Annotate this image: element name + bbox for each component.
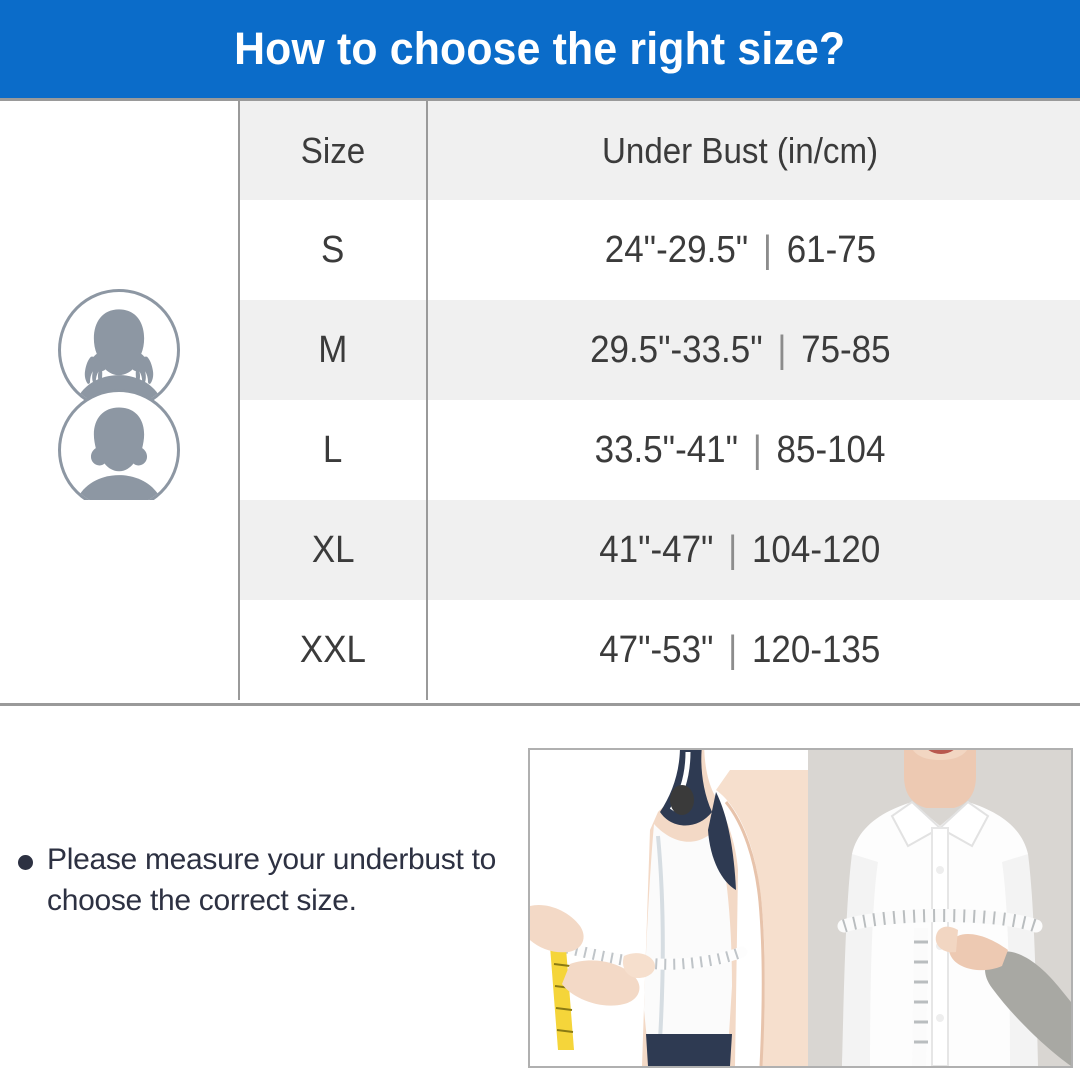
size-table: Size Under Bust (in/cm) S 24"-29.5"|61-7… [0, 101, 1080, 703]
measure-cell: 29.5"-33.5"|75-85 [426, 300, 1080, 400]
avatar-cell [0, 400, 238, 500]
size-label: S [321, 229, 344, 272]
table-bottom-divider [0, 703, 1080, 706]
size-label: M [318, 329, 347, 372]
table-row: M 29.5"-33.5"|75-85 [0, 300, 1080, 400]
measure-value: 29.5"-33.5"|75-85 [590, 329, 891, 372]
measure-cell: 24"-29.5"|61-75 [426, 200, 1080, 300]
header-banner: How to choose the right size? [0, 0, 1080, 98]
size-label: XXL [300, 629, 366, 672]
bullet-icon [18, 855, 33, 870]
measure-value: 33.5"-41"|85-104 [595, 429, 886, 472]
size-column-header-label: Size [301, 130, 365, 172]
table-row: S 24"-29.5"|61-75 [0, 200, 1080, 300]
avatar-cell [0, 500, 238, 600]
man-measuring-underbust-photo [808, 750, 1071, 1066]
measure-inches: 47"-53" [599, 629, 713, 672]
measure-cell: 33.5"-41"|85-104 [426, 400, 1080, 500]
measure-separator: | [777, 329, 786, 372]
avatar-cell [0, 600, 238, 700]
page-title: How to choose the right size? [234, 23, 845, 75]
measure-centimeters: 75-85 [801, 329, 890, 372]
measurement-photos [528, 748, 1073, 1068]
table-row: XXL 47"-53"|120-135 [0, 600, 1080, 700]
woman-measuring-underbust-photo [530, 750, 808, 1066]
measure-column-header-label: Under Bust (in/cm) [602, 130, 878, 172]
measure-inches: 41"-47" [599, 529, 713, 572]
measure-centimeters: 104-120 [752, 529, 880, 572]
measure-inches: 29.5"-33.5" [590, 329, 763, 372]
measure-value: 47"-53"|120-135 [599, 629, 880, 672]
measure-centimeters: 120-135 [752, 629, 880, 672]
table-header-row: Size Under Bust (in/cm) [0, 101, 1080, 200]
measure-separator: | [762, 229, 771, 272]
measurement-note: Please measure your underbust to choose … [18, 840, 518, 922]
measure-inches: 33.5"-41" [595, 429, 738, 472]
measurement-note-text: Please measure your underbust to choose … [47, 840, 518, 922]
table-row: L 33.5"-41"|85-104 [0, 400, 1080, 500]
size-cell: L [238, 400, 426, 500]
measure-separator: | [728, 529, 737, 572]
male-avatar-icon [58, 389, 180, 511]
measure-value: 24"-29.5"|61-75 [604, 229, 875, 272]
measure-column-header-cell: Under Bust (in/cm) [426, 101, 1080, 200]
size-label: L [323, 429, 342, 472]
size-cell: M [238, 300, 426, 400]
size-cell: XL [238, 500, 426, 600]
measure-cell: 47"-53"|120-135 [426, 600, 1080, 700]
measure-cell: 41"-47"|104-120 [426, 500, 1080, 600]
measure-separator: | [728, 629, 737, 672]
size-chart-page: How to choose the right size? Size Under… [0, 0, 1080, 1080]
size-label: XL [312, 529, 355, 572]
avatar-cell [0, 200, 238, 300]
size-cell: XXL [238, 600, 426, 700]
avatar-column-header-cell [0, 101, 238, 200]
measure-centimeters: 61-75 [786, 229, 875, 272]
size-column-header-cell: Size [238, 101, 426, 200]
measure-centimeters: 85-104 [777, 429, 886, 472]
measure-inches: 24"-29.5" [604, 229, 747, 272]
avatar-cell [0, 300, 238, 400]
measure-separator: | [753, 429, 762, 472]
size-cell: S [238, 200, 426, 300]
measure-value: 41"-47"|104-120 [599, 529, 880, 572]
table-row: XL 41"-47"|104-120 [0, 500, 1080, 600]
